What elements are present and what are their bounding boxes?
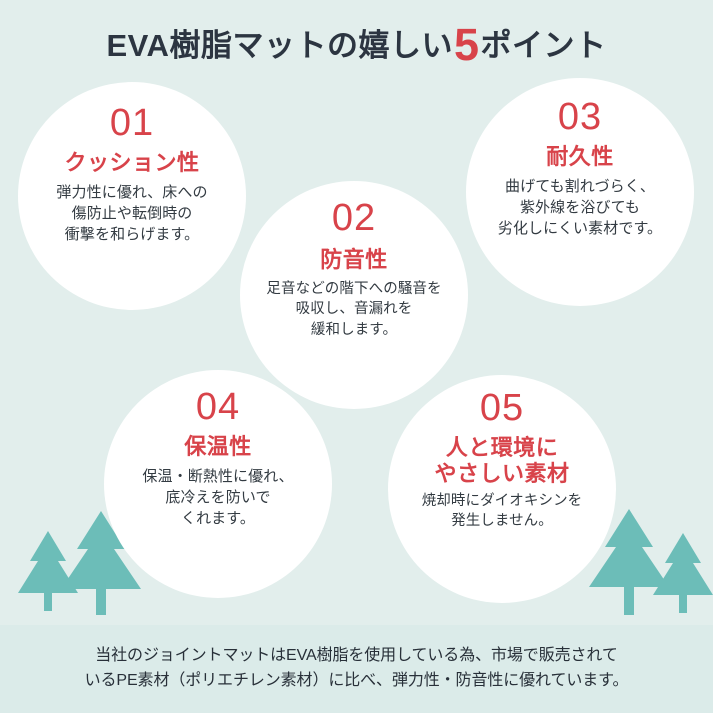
- point-heading-03: 耐久性: [546, 144, 614, 171]
- point-body-01: 弾力性に優れ、床への 傷防止や転倒時の 衝撃を和らげます。: [56, 182, 207, 246]
- point-number-02: 02: [332, 199, 376, 239]
- left-tree-small-icon: [18, 531, 78, 611]
- point-heading-02: 防音性: [320, 247, 388, 274]
- point-body-04: 保温・断熱性に優れ、 底冷えを防いで くれます。: [142, 466, 293, 530]
- point-heading-01: クッション性: [64, 150, 199, 177]
- page-title-suffix: ポイント: [480, 28, 606, 63]
- point-heading-04: 保温性: [184, 434, 252, 461]
- point-card-04: 04 保温性 保温・断熱性に優れ、 底冷えを防いで くれます。: [104, 370, 332, 598]
- infographic-poster: EVA樹脂マットの嬉しい5ポイント 01 クッション性 弾力性に優れ、床への 傷…: [0, 0, 713, 713]
- page-title-prefix: EVA樹脂マットの嬉しい: [107, 28, 453, 63]
- point-number-05: 05: [480, 389, 524, 429]
- point-card-03: 03 耐久性 曲げても割れづらく、 紫外線を浴びても 劣化しにくい素材です。: [466, 78, 694, 306]
- point-number-03: 03: [558, 98, 602, 138]
- point-number-01: 01: [110, 104, 154, 144]
- footer-description: 当社のジョイントマットはEVA樹脂を使用している為、市場で販売されて いるPE素…: [67, 644, 647, 694]
- page-title-number: 5: [453, 19, 481, 70]
- point-body-02: 足音などの階下への騒音を 吸収し、音漏れを 緩和します。: [266, 279, 441, 341]
- point-card-02: 02 防音性 足音などの階下への騒音を 吸収し、音漏れを 緩和します。: [240, 181, 468, 409]
- point-body-03: 曲げても割れづらく、 紫外線を浴びても 劣化しにくい素材です。: [498, 176, 662, 240]
- point-number-04: 04: [196, 388, 240, 428]
- point-card-05: 05 人と環境に やさしい素材 焼却時にダイオキシンを 発生しません。: [388, 375, 616, 603]
- right-tree-small-icon: [653, 533, 713, 613]
- point-heading-05: 人と環境に やさしい素材: [434, 435, 569, 488]
- point-card-01: 01 クッション性 弾力性に優れ、床への 傷防止や転倒時の 衝撃を和らげます。: [18, 82, 246, 310]
- page-title: EVA樹脂マットの嬉しい5ポイント: [0, 22, 713, 67]
- footer-banner: 当社のジョイントマットはEVA樹脂を使用している為、市場で販売されて いるPE素…: [0, 625, 713, 713]
- point-body-05: 焼却時にダイオキシンを 発生しません。: [422, 491, 583, 532]
